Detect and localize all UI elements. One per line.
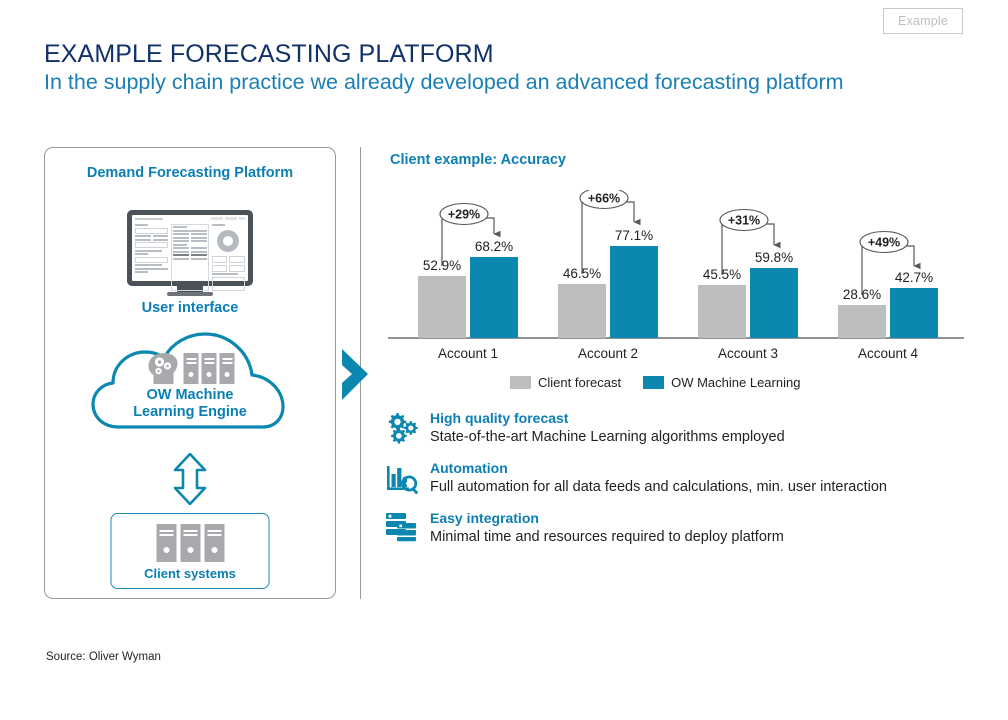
- bar-ow-ml-3: [750, 268, 798, 338]
- bar-client-forecast-3: [698, 285, 746, 338]
- chevron-right-icon: [338, 347, 382, 408]
- feature-body: State-of-the-art Machine Learning algori…: [430, 429, 976, 445]
- up-down-arrow-icon: [172, 453, 208, 510]
- example-badge-label: Example: [898, 14, 948, 28]
- legend-swatch-client-forecast: [510, 376, 531, 389]
- delta-annotation: +29%: [448, 208, 480, 222]
- legend-label-ow-ml: OW Machine Learning: [671, 375, 800, 390]
- bar-ow-ml-1: [470, 257, 518, 338]
- delta-annotation: +31%: [728, 214, 760, 228]
- gears-icon: [386, 410, 430, 446]
- head-with-gears-icon: [146, 353, 180, 385]
- bar-ow-ml-4: [890, 288, 938, 338]
- bar-value-label: 77.1%: [615, 228, 653, 243]
- chart-title: Client example: Accuracy: [390, 152, 566, 168]
- client-systems-box: Client systems: [111, 513, 270, 589]
- feature-heading: High quality forecast: [430, 410, 976, 426]
- chart-legend: Client forecast OW Machine Learning: [510, 375, 800, 390]
- server-rack-icon: [184, 353, 235, 384]
- legend-swatch-ow-ml: [643, 376, 664, 389]
- demand-forecasting-platform-panel: Demand Forecasting Platform: [44, 147, 336, 599]
- accuracy-bar-chart: 52.9% 68.2% +29% Account 1 46.5% 77.1% +…: [386, 190, 966, 370]
- bar-value-label: 68.2%: [475, 239, 513, 254]
- bar-client-forecast-4: [838, 305, 886, 338]
- feature-body: Minimal time and resources required to d…: [430, 529, 976, 545]
- client-systems-label: Client systems: [112, 566, 269, 581]
- legend-item-client-forecast: Client forecast: [510, 375, 621, 390]
- client-server-rack-icon: [112, 514, 269, 562]
- bar-ow-ml-2: [610, 246, 658, 338]
- feature-heading: Automation: [430, 460, 976, 476]
- cloud-label-line2: Learning Engine: [133, 404, 247, 420]
- user-interface-label: User interface: [45, 300, 335, 316]
- example-badge: Example: [883, 8, 963, 34]
- feature-easy-integration: Easy integration Minimal time and resour…: [386, 510, 976, 545]
- legend-item-ow-ml: OW Machine Learning: [643, 375, 800, 390]
- category-label: Account 3: [718, 346, 778, 361]
- feature-body: Full automation for all data feeds and c…: [430, 479, 976, 495]
- panel-title: Demand Forecasting Platform: [45, 165, 335, 181]
- delta-annotation: +66%: [588, 192, 620, 206]
- category-label: Account 2: [578, 346, 638, 361]
- bar-value-label: 59.8%: [755, 250, 793, 265]
- bar-value-label: 42.7%: [895, 270, 933, 285]
- database-stack-icon: [386, 510, 430, 542]
- monitor-icon: [127, 210, 253, 296]
- bar-chart-magnifier-icon: [386, 460, 430, 496]
- ml-engine-cloud: OW Machine Learning Engine: [89, 331, 291, 447]
- legend-label-client-forecast: Client forecast: [538, 375, 621, 390]
- feature-automation: Automation Full automation for all data …: [386, 460, 976, 496]
- cloud-label: OW Machine Learning Engine: [89, 387, 291, 421]
- cloud-label-line1: OW Machine: [146, 387, 233, 403]
- category-label: Account 4: [858, 346, 919, 361]
- feature-heading: Easy integration: [430, 510, 976, 526]
- category-label: Account 1: [438, 346, 498, 361]
- cloud-inner-icons: [146, 353, 235, 385]
- delta-annotation: +49%: [868, 236, 900, 250]
- source-note: Source: Oliver Wyman: [46, 651, 161, 663]
- features-list: High quality forecast State-of-the-art M…: [386, 410, 976, 559]
- bar-client-forecast-1: [418, 276, 466, 338]
- feature-high-quality-forecast: High quality forecast State-of-the-art M…: [386, 410, 976, 446]
- page-subtitle: In the supply chain practice we already …: [44, 69, 954, 96]
- bar-client-forecast-2: [558, 284, 606, 338]
- page-title: EXAMPLE FORECASTING PLATFORM: [44, 40, 494, 69]
